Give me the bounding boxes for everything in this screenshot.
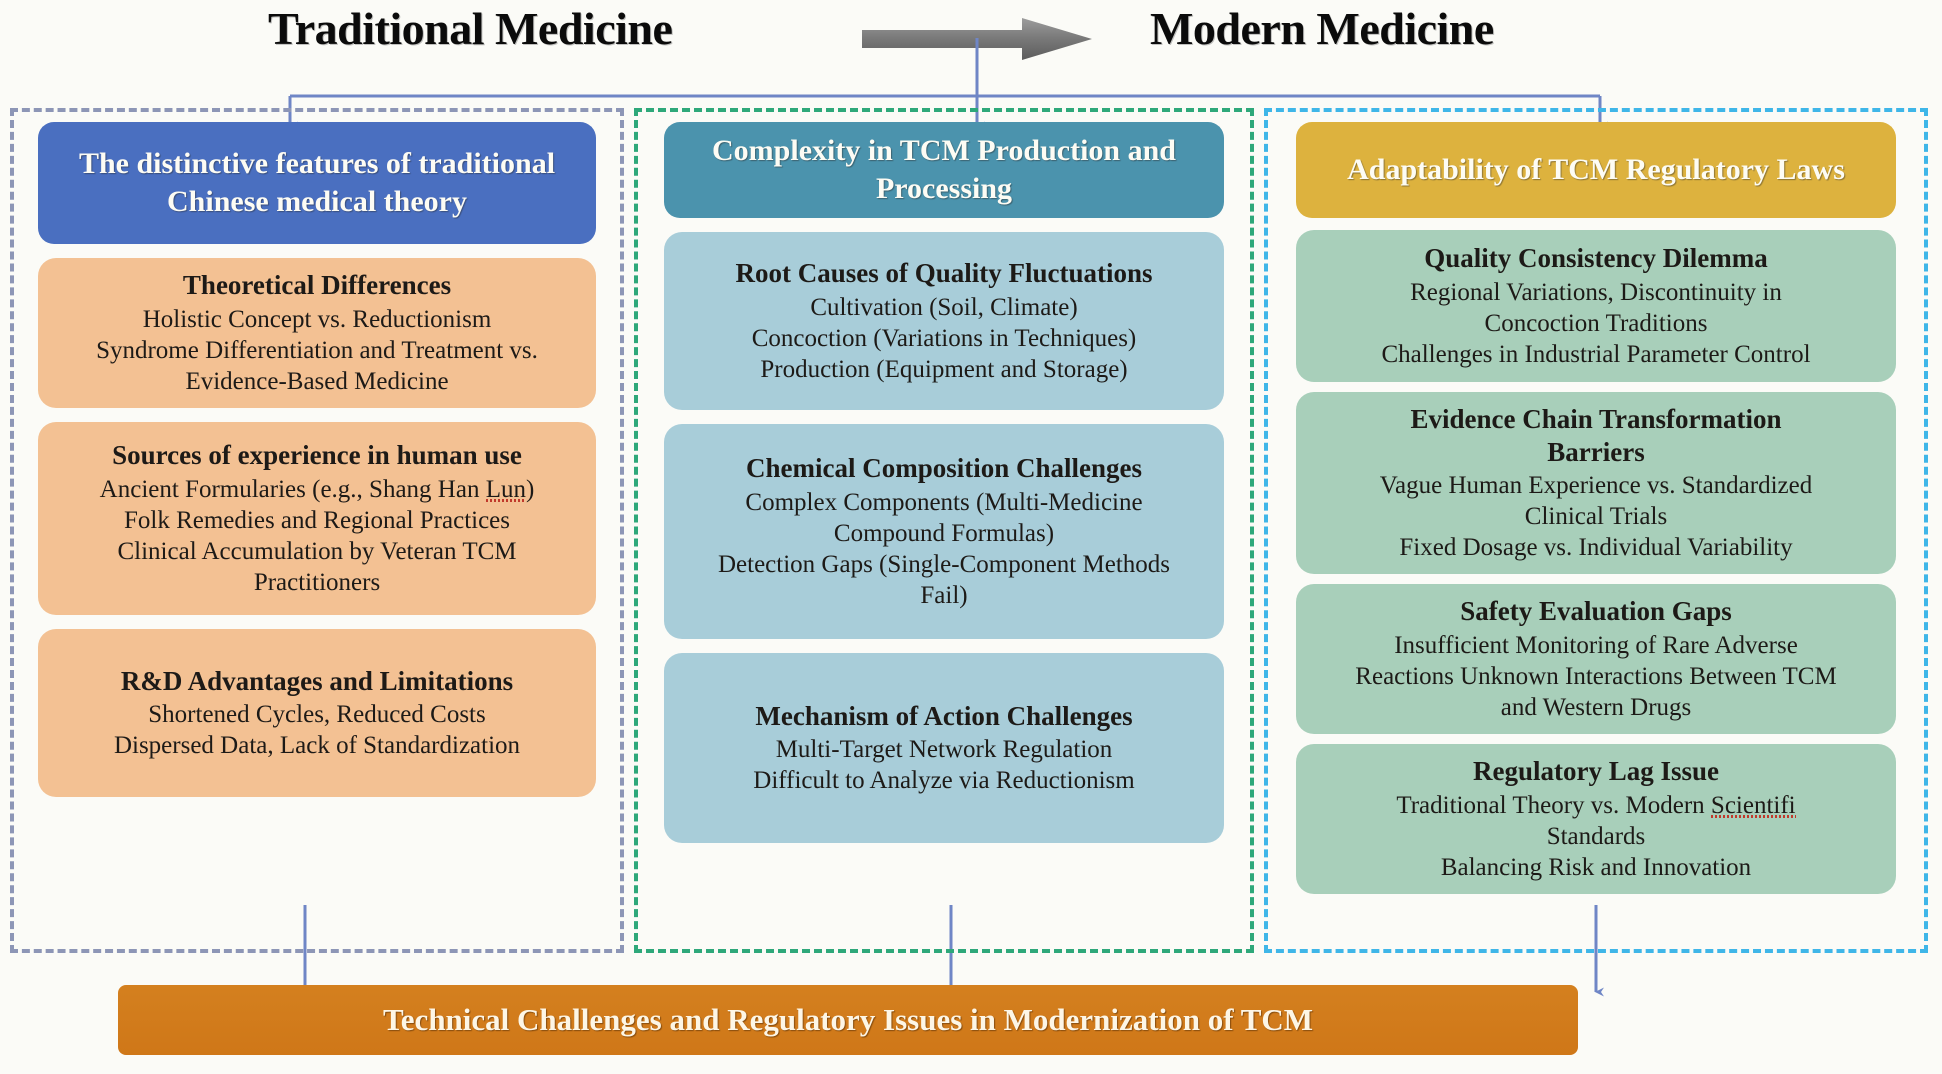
diagram-canvas: Traditional Medicine Modern Medicine <box>0 0 1942 1074</box>
card-mechanism-of-action: Mechanism of Action Challenges Multi-Tar… <box>664 653 1224 843</box>
card-title: Sources of experience in human use <box>54 439 580 472</box>
card-line: Difficult to Analyze via Reductionism <box>680 765 1208 796</box>
card-line: Complex Components (Multi-Medicine <box>680 487 1208 518</box>
card-title: Regulatory Lag Issue <box>1312 755 1880 788</box>
card-line: Practitioners <box>54 567 580 598</box>
card-title: Safety Evaluation Gaps <box>1312 595 1880 628</box>
card-line: Production (Equipment and Storage) <box>680 354 1208 385</box>
card-line: Clinical Trials <box>1312 501 1880 532</box>
card-title: Evidence Chain TransformationBarriers <box>1312 403 1880 469</box>
card-title: R&D Advantages and Limitations <box>54 665 580 698</box>
card-line: Insufficient Monitoring of Rare Adverse <box>1312 630 1880 661</box>
card-line: Fixed Dosage vs. Individual Variability <box>1312 532 1880 563</box>
card-rnd-advantages: R&D Advantages and Limitations Shortened… <box>38 629 596 797</box>
card-line: Ancient Formularies (e.g., Shang Han Lun… <box>54 474 580 505</box>
column-header-tcm-regulatory: Adaptability of TCM Regulatory Laws <box>1296 122 1896 218</box>
card-line: Fail) <box>680 580 1208 611</box>
traditional-medicine-title: Traditional Medicine <box>268 2 672 55</box>
column-tcm-production: Complexity in TCM Production and Process… <box>634 108 1254 953</box>
modern-medicine-title: Modern Medicine <box>1150 2 1494 55</box>
diagram-header: Traditional Medicine Modern Medicine <box>0 0 1942 72</box>
card-line: and Western Drugs <box>1312 692 1880 723</box>
column-header-tcm-production: Complexity in TCM Production and Process… <box>664 122 1224 218</box>
card-line: Standards <box>1312 821 1880 852</box>
card-line: Detection Gaps (Single-Component Methods <box>680 549 1208 580</box>
card-title: Quality Consistency Dilemma <box>1312 242 1880 275</box>
card-line: Clinical Accumulation by Veteran TCM <box>54 536 580 567</box>
card-title: Chemical Composition Challenges <box>680 452 1208 485</box>
card-title: Root Causes of Quality Fluctuations <box>680 257 1208 290</box>
card-line: Folk Remedies and Regional Practices <box>54 505 580 536</box>
card-title: Theoretical Differences <box>54 269 580 302</box>
card-evidence-chain-barriers: Evidence Chain TransformationBarriers Va… <box>1296 392 1896 574</box>
summary-banner: Technical Challenges and Regulatory Issu… <box>118 985 1578 1055</box>
card-line: Balancing Risk and Innovation <box>1312 852 1880 883</box>
card-theoretical-differences: Theoretical Differences Holistic Concept… <box>38 258 596 408</box>
card-line: Syndrome Differentiation and Treatment v… <box>54 335 580 366</box>
card-line: Dispersed Data, Lack of Standardization <box>54 730 580 761</box>
card-line: Shortened Cycles, Reduced Costs <box>54 699 580 730</box>
card-line: Holistic Concept vs. Reductionism <box>54 304 580 335</box>
card-line: Compound Formulas) <box>680 518 1208 549</box>
card-line: Vague Human Experience vs. Standardized <box>1312 470 1880 501</box>
card-line: Concoction (Variations in Techniques) <box>680 323 1208 354</box>
card-line: Challenges in Industrial Parameter Contr… <box>1312 339 1880 370</box>
card-quality-consistency: Quality Consistency Dilemma Regional Var… <box>1296 230 1896 382</box>
card-title: Mechanism of Action Challenges <box>680 700 1208 733</box>
card-line: Cultivation (Soil, Climate) <box>680 292 1208 323</box>
card-safety-evaluation-gaps: Safety Evaluation Gaps Insufficient Moni… <box>1296 584 1896 734</box>
card-chemical-composition: Chemical Composition Challenges Complex … <box>664 424 1224 639</box>
card-line: Reactions Unknown Interactions Between T… <box>1312 661 1880 692</box>
card-line: Traditional Theory vs. Modern Scientifi <box>1312 790 1880 821</box>
card-line: Concoction Traditions <box>1312 308 1880 339</box>
column-tcm-regulatory: Adaptability of TCM Regulatory Laws Qual… <box>1264 108 1928 953</box>
card-regulatory-lag-issue: Regulatory Lag Issue Traditional Theory … <box>1296 744 1896 894</box>
column-header-tcm-theory: The distinctive features of traditional … <box>38 122 596 244</box>
right-block-arrow-icon <box>862 18 1092 60</box>
card-root-causes-quality: Root Causes of Quality Fluctuations Cult… <box>664 232 1224 410</box>
card-sources-of-experience: Sources of experience in human use Ancie… <box>38 422 596 615</box>
card-line: Evidence-Based Medicine <box>54 366 580 397</box>
column-tcm-theory: The distinctive features of traditional … <box>10 108 624 953</box>
card-line: Regional Variations, Discontinuity in <box>1312 277 1880 308</box>
card-line: Multi-Target Network Regulation <box>680 734 1208 765</box>
